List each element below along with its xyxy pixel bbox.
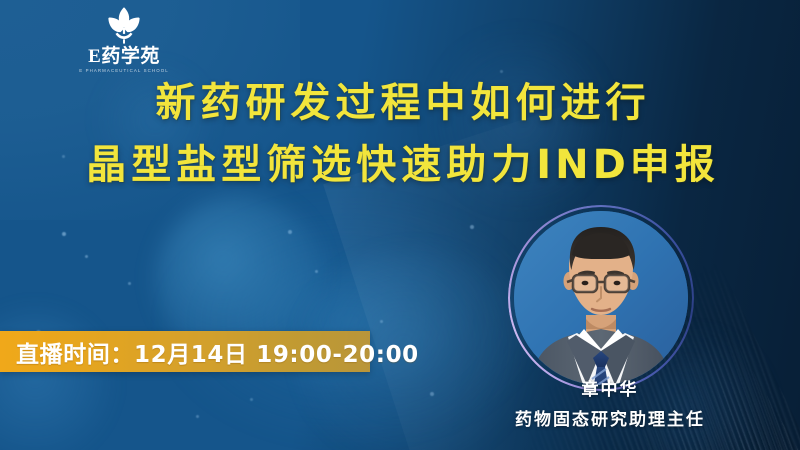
- title-line-2-latin: IND: [536, 142, 630, 188]
- light-particle: [128, 282, 131, 285]
- speaker-caption: 章中华 药物固态研究助理主任: [430, 380, 790, 432]
- light-particle: [288, 230, 292, 234]
- light-particle: [500, 70, 503, 73]
- broadcast-time-banner: 直播时间：12月14日 19:00-20:00: [0, 331, 370, 372]
- title-line-2: 晶型盐型筛选快速助力IND申报: [0, 140, 800, 190]
- speaker-photo: [514, 211, 688, 385]
- speaker-name: 章中华: [430, 380, 790, 401]
- light-particle: [196, 415, 199, 418]
- light-particle: [85, 255, 88, 258]
- poster-title: 新药研发过程中如何进行 晶型盐型筛选快速助力IND申报: [0, 78, 800, 191]
- logo-wordmark: E药学苑: [88, 47, 160, 66]
- webinar-poster: E药学苑 E PHARMACEUTICAL SCHOOL 新药研发过程中如何进行…: [0, 0, 800, 450]
- light-particle: [315, 270, 318, 273]
- light-particle: [250, 398, 253, 401]
- broadcast-time-text: 直播时间：12月14日 19:00-20:00: [0, 335, 419, 369]
- brand-logo: E药学苑 E PHARMACEUTICAL SCHOOL: [72, 6, 176, 78]
- speaker-portrait-frame: [508, 205, 694, 391]
- speaker-role: 药物固态研究助理主任: [430, 410, 790, 431]
- light-particle: [470, 225, 474, 229]
- title-line-2-post: 申报: [630, 142, 720, 188]
- title-line-1: 新药研发过程中如何进行: [0, 78, 800, 128]
- light-particle: [62, 232, 66, 236]
- title-line-2-pre: 晶型盐型筛选快速助力: [86, 142, 536, 188]
- logo-subtitle: E PHARMACEUTICAL SCHOOL: [79, 69, 169, 73]
- speaker-photo-illustration: [514, 211, 688, 385]
- orchid-flower-icon: [96, 6, 152, 46]
- light-particle: [380, 320, 383, 323]
